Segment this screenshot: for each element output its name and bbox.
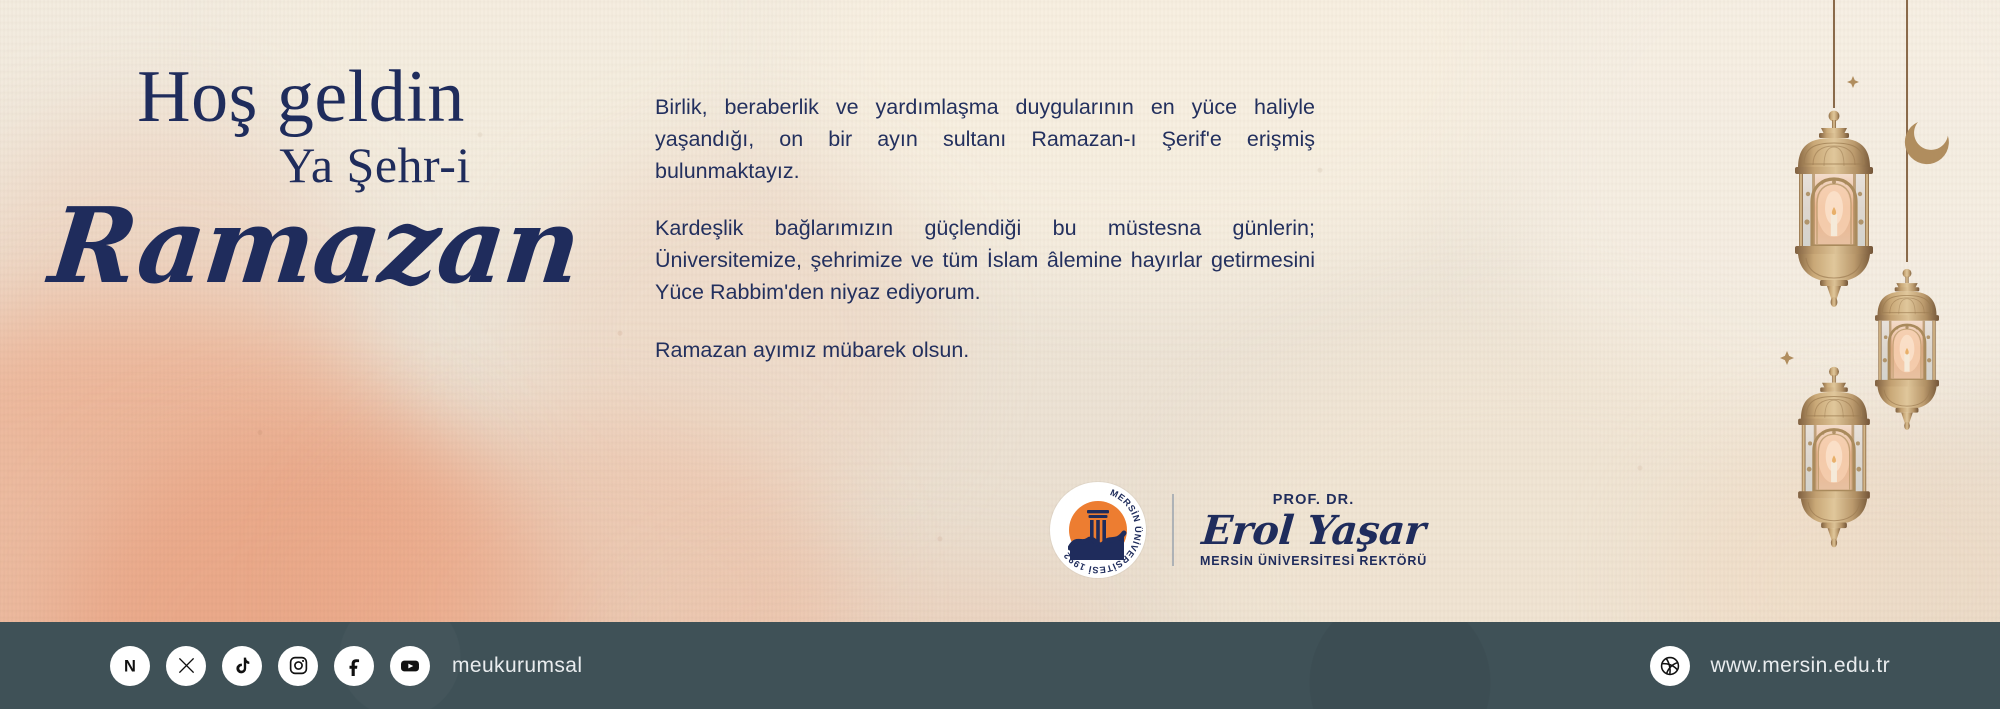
lantern-3 bbox=[1798, 367, 1870, 548]
ramazan-banner: Hoş geldin Ya Şehr-i Ramazan Birlik, ber… bbox=[0, 0, 2000, 709]
logo-emblem bbox=[1068, 500, 1128, 560]
n-logo-icon[interactable]: N bbox=[110, 646, 150, 686]
message-paragraph-3: Ramazan ayımız mübarek olsun. bbox=[655, 335, 1315, 367]
x-twitter-icon[interactable] bbox=[166, 646, 206, 686]
signature-text: PROF. DR. Erol Yaşar MERSİN ÜNİVERSİTESİ… bbox=[1200, 493, 1427, 567]
lantern-2 bbox=[1875, 269, 1939, 430]
signature-block: MERSİN ÜNİVERSİTESİ 1992 PROF. DR. Erol … bbox=[1050, 482, 1427, 578]
signature-name: Erol Yaşar bbox=[1198, 511, 1429, 551]
social-links: N bbox=[110, 646, 430, 686]
lantern-decoration bbox=[1760, 0, 2000, 622]
star-icon bbox=[1847, 76, 1859, 88]
signature-divider bbox=[1172, 494, 1174, 566]
mersin-university-logo: MERSİN ÜNİVERSİTESİ 1992 bbox=[1050, 482, 1146, 578]
instagram-icon[interactable] bbox=[278, 646, 318, 686]
headline-block: Hoş geldin Ya Şehr-i Ramazan bbox=[0, 60, 640, 298]
message-paragraph-1: Birlik, beraberlik ve yardımlaşma duygul… bbox=[655, 92, 1315, 187]
lantern-1 bbox=[1795, 111, 1873, 307]
lantern-illustration bbox=[1760, 0, 2000, 622]
globe-icon[interactable] bbox=[1650, 646, 1690, 686]
headline-line-2: Ya Şehr-i bbox=[110, 140, 640, 190]
crescent-moon-icon bbox=[1897, 113, 1956, 172]
website-url[interactable]: www.mersin.edu.tr bbox=[1710, 654, 1890, 678]
youtube-icon[interactable] bbox=[390, 646, 430, 686]
message-text: Birlik, beraberlik ve yardımlaşma duygul… bbox=[655, 92, 1315, 367]
tiktok-icon[interactable] bbox=[222, 646, 262, 686]
headline-line-3: Ramazan bbox=[0, 194, 645, 298]
message-paragraph-2: Kardeşlik bağlarımızın güçlendiği bu müs… bbox=[655, 213, 1315, 308]
star-icon bbox=[1780, 351, 1794, 365]
signature-title-prefix: PROF. DR. bbox=[1200, 493, 1427, 508]
website-group[interactable]: www.mersin.edu.tr bbox=[1650, 646, 1890, 686]
footer-bar: N bbox=[0, 622, 2000, 709]
svg-text:N: N bbox=[124, 657, 136, 675]
social-handle[interactable]: meukurumsal bbox=[452, 654, 582, 678]
signature-role: MERSİN ÜNİVERSİTESİ REKTÖRÜ bbox=[1200, 555, 1427, 568]
facebook-icon[interactable] bbox=[334, 646, 374, 686]
headline-line-1: Hoş geldin bbox=[0, 60, 640, 134]
